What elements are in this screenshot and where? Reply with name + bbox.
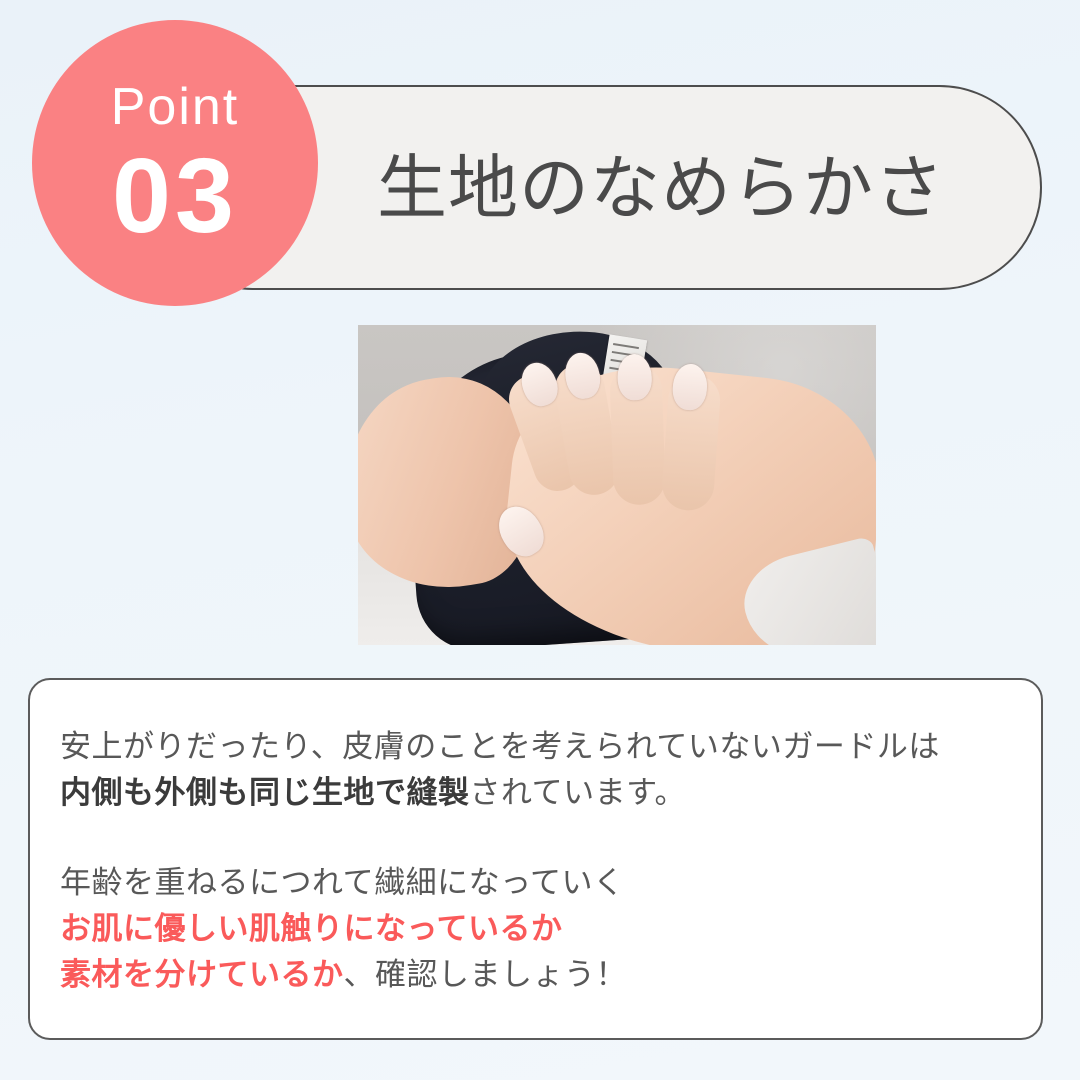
point-badge-label: Point (111, 81, 240, 133)
page-root: 生地のなめらかさ Point 03 (0, 0, 1080, 1080)
paragraph-1: 安上がりだったり、皮膚のことを考えられていないガードルは 内側も外側も同じ生地で… (60, 724, 1001, 816)
paragraph-2-line-1: 年齢を重ねるにつれて繊細になっていく (60, 860, 1001, 906)
paragraph-2-highlight-1: お肌に優しい肌触りになっているか (60, 906, 1001, 952)
paragraph-1-line-2-rest: されています。 (470, 775, 686, 810)
description-card: 安上がりだったり、皮膚のことを考えられていないガードルは 内側も外側も同じ生地で… (28, 678, 1043, 1040)
paragraph-2: 年齢を重ねるにつれて繊細になっていく お肌に優しい肌触りになっているか 素材を分… (60, 860, 1001, 998)
paragraph-2-line-3-rest: 、確認しましょう！ (344, 957, 628, 992)
point-badge-number: 03 (112, 143, 238, 249)
paragraph-1-line-1: 安上がりだったり、皮膚のことを考えられていないガードルは (60, 724, 1001, 770)
paragraph-2-highlight-2: 素材を分けているか (60, 957, 344, 992)
paragraph-1-bold: 内側も外側も同じ生地で縫製 (60, 775, 470, 810)
point-badge: Point 03 (32, 20, 318, 306)
photo-background (358, 325, 876, 645)
product-photo (358, 325, 876, 645)
header-section: 生地のなめらかさ Point 03 (0, 0, 1080, 320)
page-title: 生地のなめらかさ (377, 153, 945, 223)
